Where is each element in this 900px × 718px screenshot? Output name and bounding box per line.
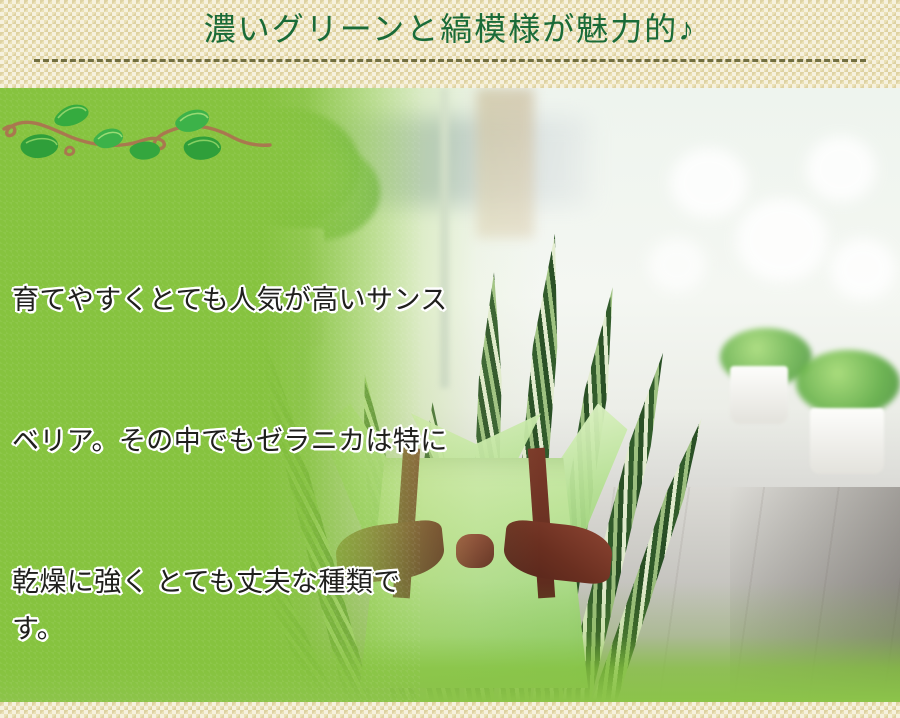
photo-bokeh: [670, 148, 748, 218]
photo-bokeh: [648, 238, 706, 292]
photo-bokeh: [736, 198, 828, 282]
banner-footer-strip: [0, 702, 900, 718]
body-line: 乾燥に強く とても丈夫な種類です。: [12, 559, 452, 653]
photo-bokeh: [830, 238, 896, 300]
photo-background-pot: [810, 408, 884, 474]
photo-background-foliage: [796, 350, 900, 416]
page-title: 濃いグリーンと縞模様が魅力的♪: [0, 6, 900, 52]
body-copy: 育てやすくとても人気が高いサンス ベリア。その中でもゼラニカは特に 乾燥に強く …: [12, 183, 452, 702]
photo-bokeh: [806, 136, 876, 202]
banner-header: 濃いグリーンと縞模様が魅力的♪: [0, 0, 900, 88]
footer-paper-texture: [0, 702, 900, 718]
body-line: ベリア。その中でもゼラニカは特に: [12, 418, 452, 465]
product-feature-banner: 濃いグリーンと縞模様が魅力的♪: [0, 0, 900, 718]
main-panel: 育てやすくとても人気が高いサンス ベリア。その中でもゼラニカは特に 乾燥に強く …: [0, 88, 900, 702]
ribbon-knot: [456, 534, 494, 568]
header-dashed-divider: [34, 59, 866, 62]
photo-pillar: [476, 88, 534, 238]
vine-stem-icon: [4, 122, 270, 154]
vine-leaf-icon: [21, 105, 222, 160]
photo-background-pot: [730, 366, 788, 424]
ribbon-loop-right: [501, 519, 614, 586]
photo-floor-shadow: [730, 487, 900, 702]
body-line: 育てやすくとても人気が高いサンス: [12, 277, 452, 324]
